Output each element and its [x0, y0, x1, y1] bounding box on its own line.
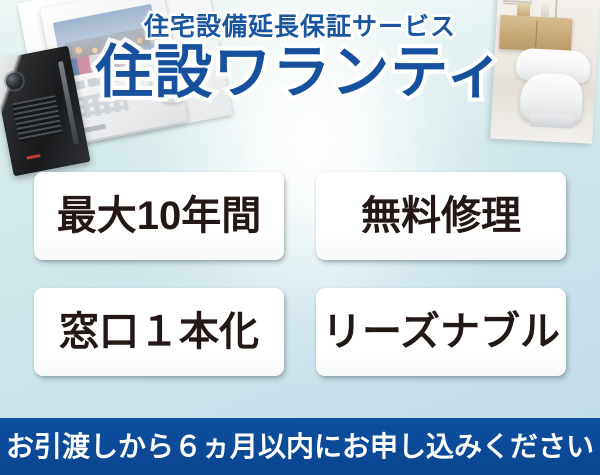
- toilet-base: [529, 112, 574, 128]
- headline-block: 住宅設備延長保証サービス 住設ワランティ: [0, 14, 600, 105]
- promo-banner: 住宅設備延長保証サービス 住設ワランティ 最大10年間 無料修理 窓口１本化 リ…: [0, 0, 600, 475]
- banner-subtitle: 住宅設備延長保証サービス: [0, 14, 600, 40]
- feature-label-reasonable: リーズナブル: [322, 312, 560, 352]
- feature-label-duration: 最大10年間: [57, 196, 262, 236]
- feature-box-duration: 最大10年間: [34, 172, 284, 260]
- feature-grid: 最大10年間 無料修理 窓口１本化 リーズナブル: [34, 172, 566, 376]
- feature-label-free-repair: 無料修理: [361, 196, 521, 236]
- callout-text: お引渡しから６ヵ月以内にお申し込みください: [6, 433, 594, 461]
- feature-box-free-repair: 無料修理: [316, 172, 566, 260]
- feature-box-reasonable: リーズナブル: [316, 288, 566, 376]
- status-led: [26, 154, 40, 160]
- feature-box-single-contact: 窓口１本化: [34, 288, 284, 376]
- feature-label-single-contact: 窓口１本化: [59, 312, 259, 352]
- callout-bar: お引渡しから６ヵ月以内にお申し込みください: [0, 418, 600, 475]
- banner-title: 住設ワランティ: [0, 42, 600, 105]
